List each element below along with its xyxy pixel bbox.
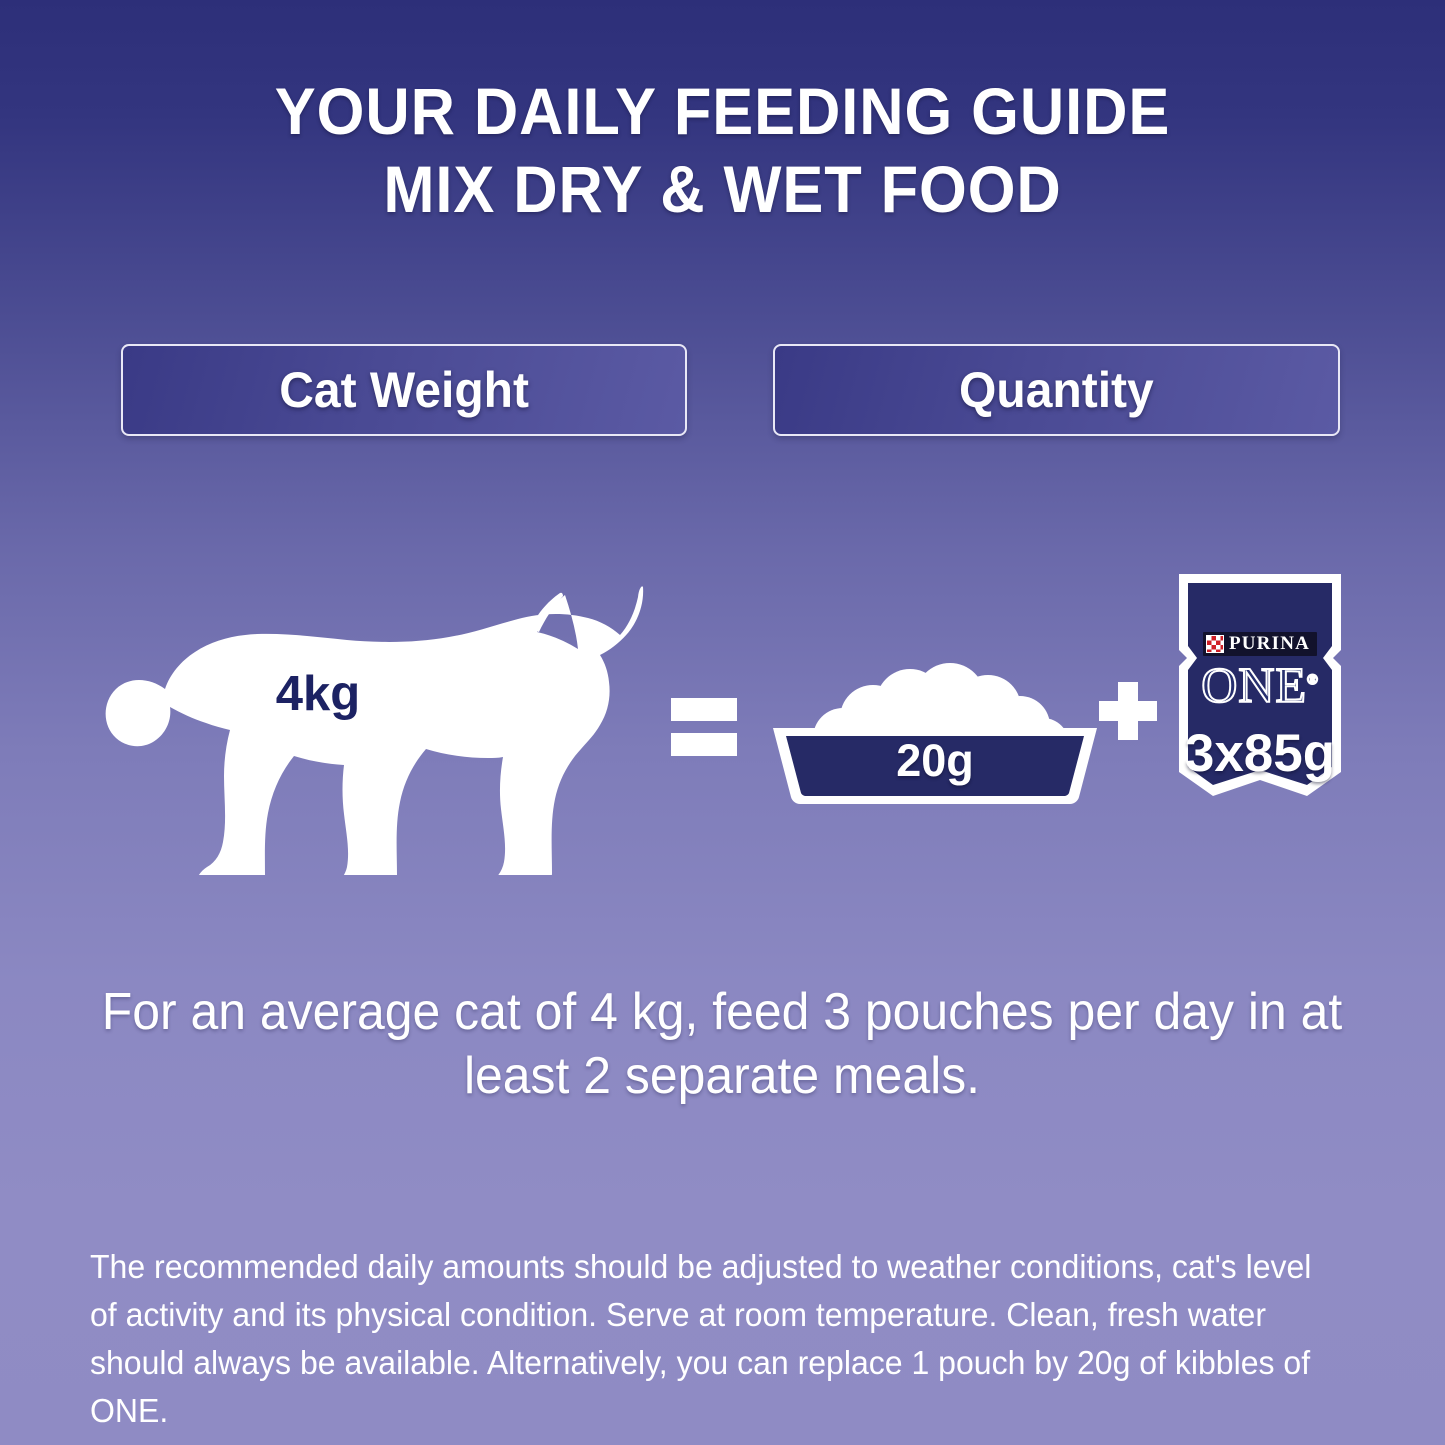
dry-food-amount: 20g xyxy=(765,735,1105,787)
purina-checkerboard-icon xyxy=(1206,635,1224,653)
column-header-quantity: Quantity xyxy=(773,344,1340,436)
cat-silhouette-icon xyxy=(95,585,675,875)
page-title: YOUR DAILY FEEDING GUIDE MIX DRY & WET F… xyxy=(0,72,1445,228)
equals-sign-icon xyxy=(671,698,737,756)
column-header-cat-weight: Cat Weight xyxy=(121,344,687,436)
plus-bar-horizontal xyxy=(1099,701,1157,721)
pouch-amount: 3x85g xyxy=(1167,723,1353,784)
equals-bar-top xyxy=(671,698,737,721)
feeding-guide-poster: YOUR DAILY FEEDING GUIDE MIX DRY & WET F… xyxy=(0,0,1445,1445)
feeding-advice-text: For an average cat of 4 kg, feed 3 pouch… xyxy=(98,980,1346,1108)
purina-brand-bottom: ONE® xyxy=(1167,655,1353,711)
purina-wordmark-bar: PURINA xyxy=(1203,632,1317,656)
title-line-2: MIX DRY & WET FOOD xyxy=(51,150,1395,228)
registered-mark: ® xyxy=(1307,673,1319,688)
purina-brand-top: PURINA xyxy=(1229,634,1310,654)
cat-weight-value: 4kg xyxy=(248,666,388,722)
column-header-quantity-label: Quantity xyxy=(959,361,1154,419)
purina-one-logo: PURINA ONE® xyxy=(1167,632,1353,711)
title-line-1: YOUR DAILY FEEDING GUIDE xyxy=(51,72,1395,150)
column-header-cat-weight-label: Cat Weight xyxy=(279,361,529,419)
fineprint-text: The recommended daily amounts should be … xyxy=(90,1243,1327,1435)
plus-sign-icon xyxy=(1099,682,1157,740)
equals-bar-bottom xyxy=(671,733,737,756)
one-wordmark: ONE xyxy=(1201,657,1307,713)
